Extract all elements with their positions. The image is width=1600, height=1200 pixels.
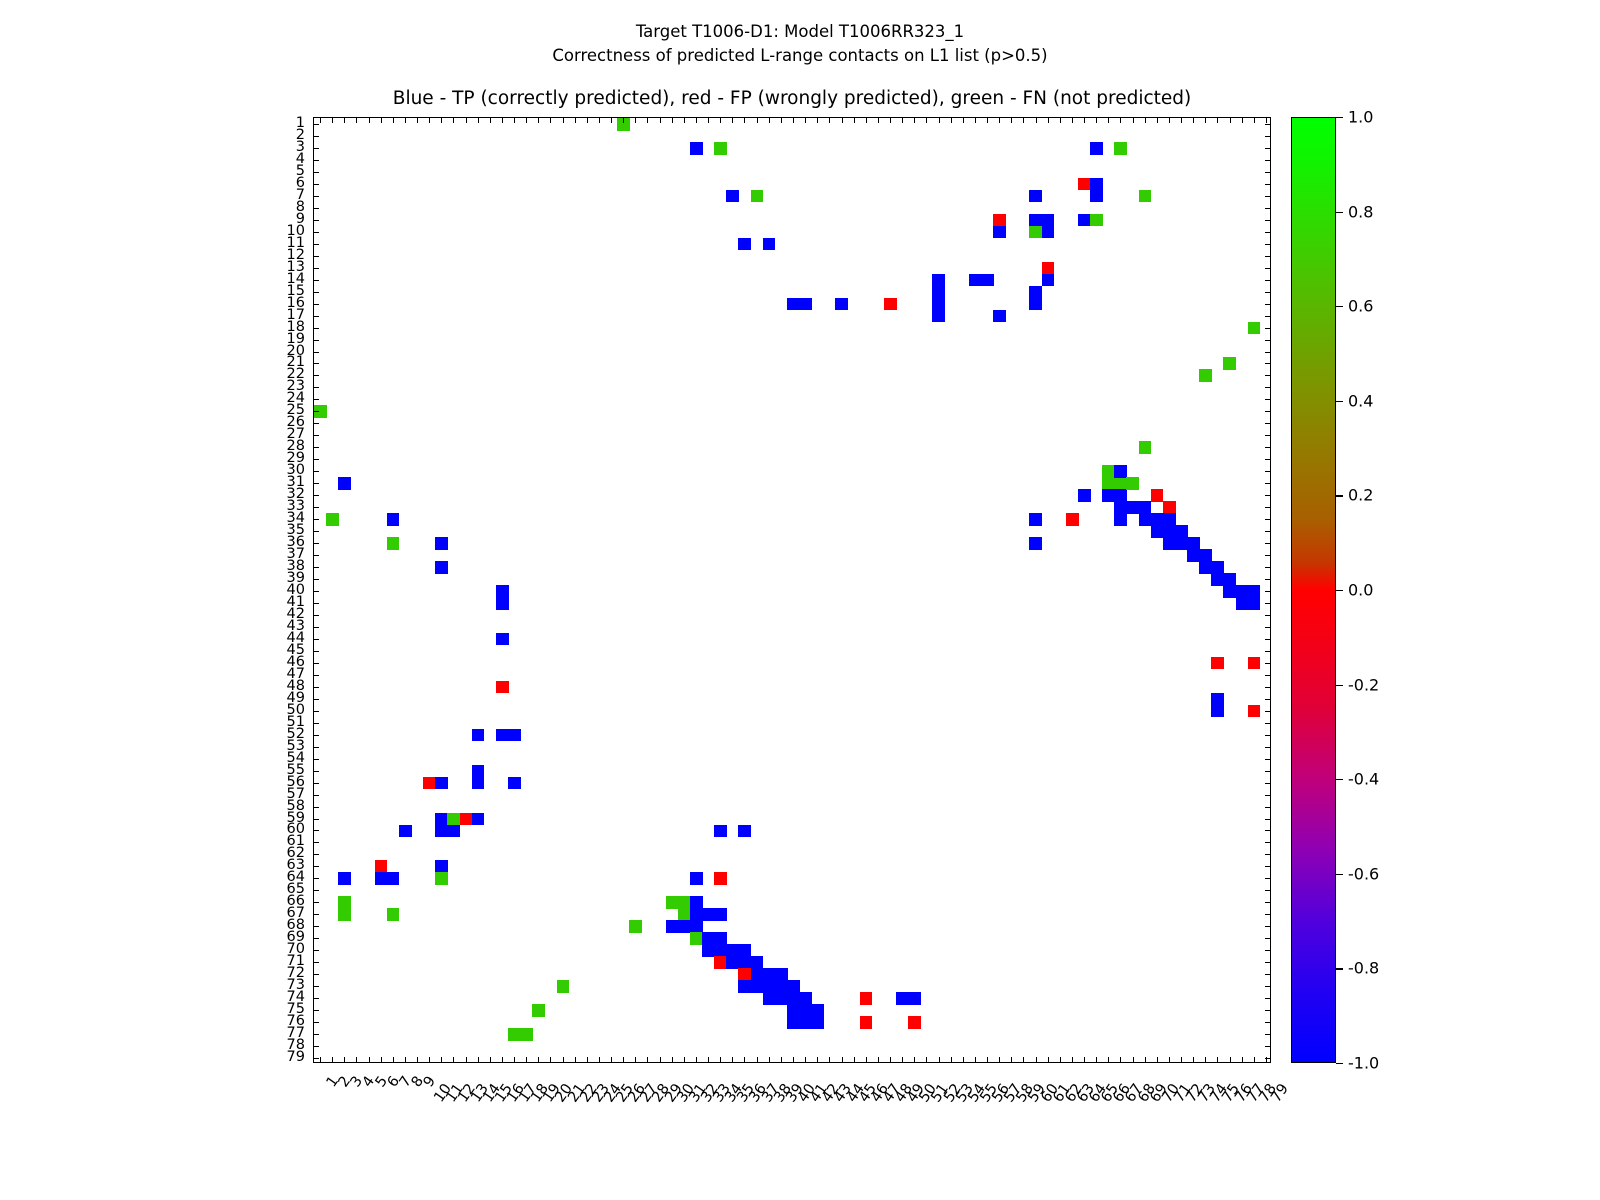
- x-tick-top: [611, 117, 612, 123]
- y-tick-left: [313, 783, 319, 784]
- y-tick-right: [1265, 1022, 1271, 1023]
- contact-cell: [1248, 585, 1261, 598]
- x-tick-top: [550, 117, 551, 123]
- x-tick-bottom: [1023, 1057, 1024, 1063]
- contact-cell: [884, 298, 897, 311]
- y-tick-right: [1265, 759, 1271, 760]
- y-tick-left: [313, 1010, 319, 1011]
- x-tick-bottom: [926, 1057, 927, 1063]
- contact-cell: [993, 214, 1006, 227]
- contact-cell: [1187, 549, 1200, 562]
- x-tick-bottom: [829, 1057, 830, 1063]
- y-tick-right: [1265, 148, 1271, 149]
- y-tick-left: [313, 244, 319, 245]
- y-tick-left: [313, 854, 319, 855]
- x-tick-bottom: [623, 1057, 624, 1063]
- y-tick-right: [1265, 435, 1271, 436]
- y-tick-left: [313, 316, 319, 317]
- y-tick-left: [313, 842, 319, 843]
- y-tick-right: [1265, 819, 1271, 820]
- x-tick-top: [1242, 117, 1243, 123]
- contact-cell: [1114, 142, 1127, 155]
- colorbar-tick-label: 1.0: [1348, 108, 1373, 127]
- x-tick-bottom: [987, 1057, 988, 1063]
- x-tick-top: [781, 117, 782, 123]
- x-tick-top: [999, 117, 1000, 123]
- x-tick-bottom: [1217, 1057, 1218, 1063]
- y-tick-right: [1265, 399, 1271, 400]
- colorbar-tick-label: 0.8: [1348, 202, 1373, 221]
- x-tick-bottom: [1108, 1057, 1109, 1063]
- contact-cell: [1114, 513, 1127, 526]
- x-tick-bottom: [757, 1057, 758, 1063]
- x-tick-bottom: [999, 1057, 1000, 1063]
- y-tick-left: [313, 220, 319, 221]
- contact-cell: [1199, 561, 1212, 574]
- y-tick-left: [313, 974, 319, 975]
- x-tick-top: [817, 117, 818, 123]
- contact-cell: [508, 729, 521, 742]
- x-tick-bottom: [538, 1057, 539, 1063]
- contact-cell: [1029, 298, 1042, 311]
- x-tick-top: [1193, 117, 1194, 123]
- y-tick-right: [1265, 220, 1271, 221]
- contact-cell: [932, 286, 945, 299]
- contact-cell: [702, 944, 715, 957]
- x-tick-top: [526, 117, 527, 123]
- contact-cell: [387, 537, 400, 550]
- contact-cell: [860, 992, 873, 1005]
- y-tick-left: [313, 890, 319, 891]
- x-tick-top: [429, 117, 430, 123]
- contact-cell: [1248, 597, 1261, 610]
- x-tick-bottom: [453, 1057, 454, 1063]
- contact-cell: [775, 968, 788, 981]
- x-tick-bottom: [1145, 1057, 1146, 1063]
- y-tick-right: [1265, 651, 1271, 652]
- contact-cell: [690, 932, 703, 945]
- contact-cell: [1151, 489, 1164, 502]
- y-tick-left: [313, 280, 319, 281]
- y-tick-right: [1265, 280, 1271, 281]
- contact-cell: [726, 956, 739, 969]
- y-tick-right: [1265, 256, 1271, 257]
- y-tick-right: [1265, 675, 1271, 676]
- y-tick-right: [1265, 304, 1271, 305]
- contact-cell: [1090, 178, 1103, 191]
- y-tick-left: [313, 615, 319, 616]
- x-tick-top: [1157, 117, 1158, 123]
- y-tick-right: [1265, 747, 1271, 748]
- colorbar-tick: [1336, 968, 1343, 969]
- contact-cell: [1042, 274, 1055, 287]
- y-tick-right: [1265, 483, 1271, 484]
- y-tick-left: [313, 1022, 319, 1023]
- contact-cell: [690, 908, 703, 921]
- y-tick-right: [1265, 807, 1271, 808]
- contact-cell: [472, 777, 485, 790]
- contact-cell: [1078, 178, 1091, 191]
- contact-cell: [1175, 525, 1188, 538]
- contact-cell: [1042, 226, 1055, 239]
- y-tick-right: [1265, 375, 1271, 376]
- y-tick-left: [313, 375, 319, 376]
- contact-cell: [435, 813, 448, 826]
- x-tick-bottom: [720, 1057, 721, 1063]
- contact-cell: [1029, 226, 1042, 239]
- contact-cell: [460, 813, 473, 826]
- y-tick-right: [1265, 387, 1271, 388]
- y-tick-right: [1265, 507, 1271, 508]
- contact-cell: [751, 956, 764, 969]
- x-tick-bottom: [890, 1057, 891, 1063]
- x-tick-bottom: [1181, 1057, 1182, 1063]
- y-tick-left: [313, 387, 319, 388]
- y-tick-right: [1265, 1010, 1271, 1011]
- y-tick-left: [313, 495, 319, 496]
- x-tick-bottom: [550, 1057, 551, 1063]
- x-tick-top: [1145, 117, 1146, 123]
- x-axis-labels: 1234567891011121314151617181920212223242…: [313, 1066, 1271, 1186]
- x-tick-bottom: [1084, 1057, 1085, 1063]
- y-tick-left: [313, 914, 319, 915]
- x-tick-top: [538, 117, 539, 123]
- x-tick-bottom: [526, 1057, 527, 1063]
- y-tick-left: [313, 687, 319, 688]
- x-tick-bottom: [1133, 1057, 1134, 1063]
- x-tick-top: [829, 117, 830, 123]
- contact-cell: [447, 825, 460, 838]
- x-tick-bottom: [502, 1057, 503, 1063]
- x-tick-bottom: [647, 1057, 648, 1063]
- contact-cell: [1223, 357, 1236, 370]
- y-tick-left: [313, 124, 319, 125]
- y-tick-left: [313, 747, 319, 748]
- y-tick-right: [1265, 579, 1271, 580]
- x-tick-bottom: [611, 1057, 612, 1063]
- contact-cell: [787, 980, 800, 993]
- x-tick-top: [672, 117, 673, 123]
- contact-cell: [399, 825, 412, 838]
- x-tick-top: [963, 117, 964, 123]
- y-tick-left: [313, 735, 319, 736]
- x-tick-top: [320, 117, 321, 123]
- x-tick-bottom: [441, 1057, 442, 1063]
- y-tick-right: [1265, 292, 1271, 293]
- contact-cell: [969, 274, 982, 287]
- y-tick-right: [1265, 603, 1271, 604]
- contact-cell: [775, 992, 788, 1005]
- x-tick-top: [769, 117, 770, 123]
- contact-cell: [1042, 214, 1055, 227]
- y-tick-left: [313, 435, 319, 436]
- contact-cell: [932, 298, 945, 311]
- colorbar-tick: [1336, 306, 1343, 307]
- y-tick-left: [313, 1058, 319, 1059]
- y-tick-right: [1265, 519, 1271, 520]
- y-tick-right: [1265, 1046, 1271, 1047]
- contact-cell: [714, 825, 727, 838]
- contact-cell: [787, 992, 800, 1005]
- x-tick-top: [478, 117, 479, 123]
- x-tick-bottom: [951, 1057, 952, 1063]
- x-tick-top: [356, 117, 357, 123]
- contact-cell: [1236, 585, 1249, 598]
- contact-cell: [932, 274, 945, 287]
- y-tick-right: [1265, 543, 1271, 544]
- y-tick-left: [313, 232, 319, 233]
- y-tick-right: [1265, 316, 1271, 317]
- colorbar-tick-label: 0.2: [1348, 486, 1373, 505]
- contact-cell: [690, 896, 703, 909]
- contact-cell: [1114, 477, 1127, 490]
- contact-cell: [738, 944, 751, 957]
- contact-cell: [1090, 214, 1103, 227]
- x-tick-bottom: [393, 1057, 394, 1063]
- y-tick-right: [1265, 866, 1271, 867]
- x-tick-top: [441, 117, 442, 123]
- y-tick-right: [1265, 962, 1271, 963]
- contact-cell: [738, 825, 751, 838]
- colorbar-tick: [1336, 590, 1343, 591]
- y-tick-left: [313, 196, 319, 197]
- contact-cell: [1223, 585, 1236, 598]
- x-tick-bottom: [1048, 1057, 1049, 1063]
- y-tick-right: [1265, 352, 1271, 353]
- contact-cell: [1187, 537, 1200, 550]
- y-tick-left: [313, 208, 319, 209]
- x-tick-bottom: [1230, 1057, 1231, 1063]
- contact-map-plot-area[interactable]: [313, 117, 1271, 1063]
- y-tick-left: [313, 328, 319, 329]
- x-tick-bottom: [866, 1057, 867, 1063]
- y-tick-right: [1265, 555, 1271, 556]
- y-tick-left: [313, 830, 319, 831]
- x-tick-top: [1072, 117, 1073, 123]
- x-tick-bottom: [1157, 1057, 1158, 1063]
- contact-cell: [1139, 190, 1152, 203]
- x-tick-top: [732, 117, 733, 123]
- contact-cell: [435, 561, 448, 574]
- y-tick-left: [313, 699, 319, 700]
- x-tick-bottom: [672, 1057, 673, 1063]
- x-tick-top: [1181, 117, 1182, 123]
- y-tick-left: [313, 184, 319, 185]
- contact-cell: [1211, 705, 1224, 718]
- x-tick-top: [1120, 117, 1121, 123]
- x-tick-bottom: [1072, 1057, 1073, 1063]
- x-tick-top: [744, 117, 745, 123]
- x-tick-top: [1169, 117, 1170, 123]
- y-tick-left: [313, 998, 319, 999]
- contact-cell: [763, 992, 776, 1005]
- colorbar-gradient: [1292, 118, 1335, 1062]
- x-tick-bottom: [963, 1057, 964, 1063]
- x-tick-top: [926, 117, 927, 123]
- x-tick-bottom: [732, 1057, 733, 1063]
- contact-cell: [714, 932, 727, 945]
- colorbar-tick: [1336, 779, 1343, 780]
- x-tick-bottom: [599, 1057, 600, 1063]
- x-tick-top: [1048, 117, 1049, 123]
- contact-cell: [763, 980, 776, 993]
- y-tick-left: [313, 878, 319, 879]
- contact-cell: [1151, 525, 1164, 538]
- x-tick-top: [1084, 117, 1085, 123]
- contact-cell: [338, 896, 351, 909]
- colorbar-tick: [1336, 401, 1343, 402]
- y-tick-left: [313, 807, 319, 808]
- x-tick-bottom: [1193, 1057, 1194, 1063]
- x-tick-bottom: [381, 1057, 382, 1063]
- contact-cell: [375, 872, 388, 885]
- x-tick-top: [1036, 117, 1037, 123]
- x-tick-top: [1023, 117, 1024, 123]
- contact-cell: [1102, 477, 1115, 490]
- y-tick-left: [313, 256, 319, 257]
- y-tick-left: [313, 136, 319, 137]
- x-tick-bottom: [587, 1057, 588, 1063]
- y-tick-left: [313, 819, 319, 820]
- colorbar-tick-label: -0.2: [1348, 675, 1379, 694]
- y-tick-right: [1265, 196, 1271, 197]
- y-tick-left: [313, 148, 319, 149]
- contact-cell: [1199, 369, 1212, 382]
- x-tick-bottom: [514, 1057, 515, 1063]
- contact-cell: [508, 1028, 521, 1041]
- contact-cell: [435, 872, 448, 885]
- contact-cell: [799, 992, 812, 1005]
- contact-cell: [787, 1004, 800, 1017]
- contact-cell: [738, 980, 751, 993]
- x-tick-bottom: [817, 1057, 818, 1063]
- y-tick-left: [313, 926, 319, 927]
- colorbar-tick: [1336, 685, 1343, 686]
- y-tick-left: [313, 268, 319, 269]
- y-tick-left: [313, 627, 319, 628]
- x-tick-top: [369, 117, 370, 123]
- x-tick-bottom: [575, 1057, 576, 1063]
- x-tick-bottom: [1169, 1057, 1170, 1063]
- y-tick-left: [313, 986, 319, 987]
- x-tick-bottom: [696, 1057, 697, 1063]
- contact-cell: [787, 1016, 800, 1029]
- contact-cell: [1211, 561, 1224, 574]
- colorbar-tick-label: -0.8: [1348, 959, 1379, 978]
- y-tick-right: [1265, 974, 1271, 975]
- y-tick-left: [313, 352, 319, 353]
- y-tick-right: [1265, 711, 1271, 712]
- y-tick-left: [313, 363, 319, 364]
- contact-cell: [496, 681, 509, 694]
- contact-cell: [375, 860, 388, 873]
- contact-cell: [981, 274, 994, 287]
- x-tick-top: [381, 117, 382, 123]
- x-tick-bottom: [769, 1057, 770, 1063]
- y-tick-left: [313, 938, 319, 939]
- y-tick-right: [1265, 854, 1271, 855]
- y-tick-right: [1265, 340, 1271, 341]
- contact-cell: [993, 226, 1006, 239]
- title-line-1: Target T1006-D1: Model T1006RR323_1: [0, 20, 1600, 44]
- x-tick-top: [1266, 117, 1267, 123]
- y-axis-tick-label: 79: [287, 1051, 305, 1063]
- contact-cell: [811, 1016, 824, 1029]
- contact-cell: [714, 908, 727, 921]
- contact-cell: [508, 777, 521, 790]
- contact-cell: [908, 992, 921, 1005]
- y-tick-right: [1265, 567, 1271, 568]
- x-tick-bottom: [1036, 1057, 1037, 1063]
- contact-cell: [1139, 513, 1152, 526]
- y-tick-right: [1265, 172, 1271, 173]
- contact-cell: [1029, 214, 1042, 227]
- contact-cell: [799, 298, 812, 311]
- x-tick-bottom: [1011, 1057, 1012, 1063]
- contact-cell: [435, 777, 448, 790]
- contact-cell: [1211, 693, 1224, 706]
- colorbar[interactable]: [1291, 117, 1336, 1063]
- contact-cell: [835, 298, 848, 311]
- y-tick-right: [1265, 495, 1271, 496]
- contact-cell: [338, 477, 351, 490]
- contact-cell: [993, 310, 1006, 323]
- x-tick-bottom: [635, 1057, 636, 1063]
- x-tick-bottom: [793, 1057, 794, 1063]
- contact-cell: [690, 920, 703, 933]
- x-tick-top: [1133, 117, 1134, 123]
- y-tick-left: [313, 160, 319, 161]
- x-tick-top: [987, 117, 988, 123]
- contact-cell: [1029, 513, 1042, 526]
- x-tick-bottom: [878, 1057, 879, 1063]
- contact-cell: [860, 1016, 873, 1029]
- x-tick-bottom: [660, 1057, 661, 1063]
- y-tick-right: [1265, 926, 1271, 927]
- x-tick-bottom: [429, 1057, 430, 1063]
- contact-cell: [738, 968, 751, 981]
- colorbar-tick: [1336, 1063, 1343, 1064]
- y-tick-right: [1265, 902, 1271, 903]
- y-tick-right: [1265, 795, 1271, 796]
- x-tick-top: [635, 117, 636, 123]
- contact-cell: [1090, 190, 1103, 203]
- colorbar-tick-label: 0.6: [1348, 297, 1373, 316]
- y-axis-labels: 1234567891011121314151617181920212223242…: [0, 117, 313, 1063]
- x-tick-bottom: [684, 1057, 685, 1063]
- y-tick-left: [313, 411, 319, 412]
- y-tick-right: [1265, 771, 1271, 772]
- x-tick-bottom: [805, 1057, 806, 1063]
- x-tick-top: [684, 117, 685, 123]
- contact-cell: [1102, 489, 1115, 502]
- y-tick-left: [313, 795, 319, 796]
- y-tick-right: [1265, 914, 1271, 915]
- y-tick-right: [1265, 735, 1271, 736]
- y-tick-right: [1265, 842, 1271, 843]
- contact-cell: [1078, 489, 1091, 502]
- contact-cell: [472, 765, 485, 778]
- contact-cell: [1163, 537, 1176, 550]
- y-tick-right: [1265, 411, 1271, 412]
- x-tick-bottom: [332, 1057, 333, 1063]
- x-tick-bottom: [708, 1057, 709, 1063]
- contact-cell: [472, 813, 485, 826]
- y-tick-right: [1265, 136, 1271, 137]
- contact-cell: [751, 190, 764, 203]
- contact-cell: [1066, 513, 1079, 526]
- contact-cell: [714, 944, 727, 957]
